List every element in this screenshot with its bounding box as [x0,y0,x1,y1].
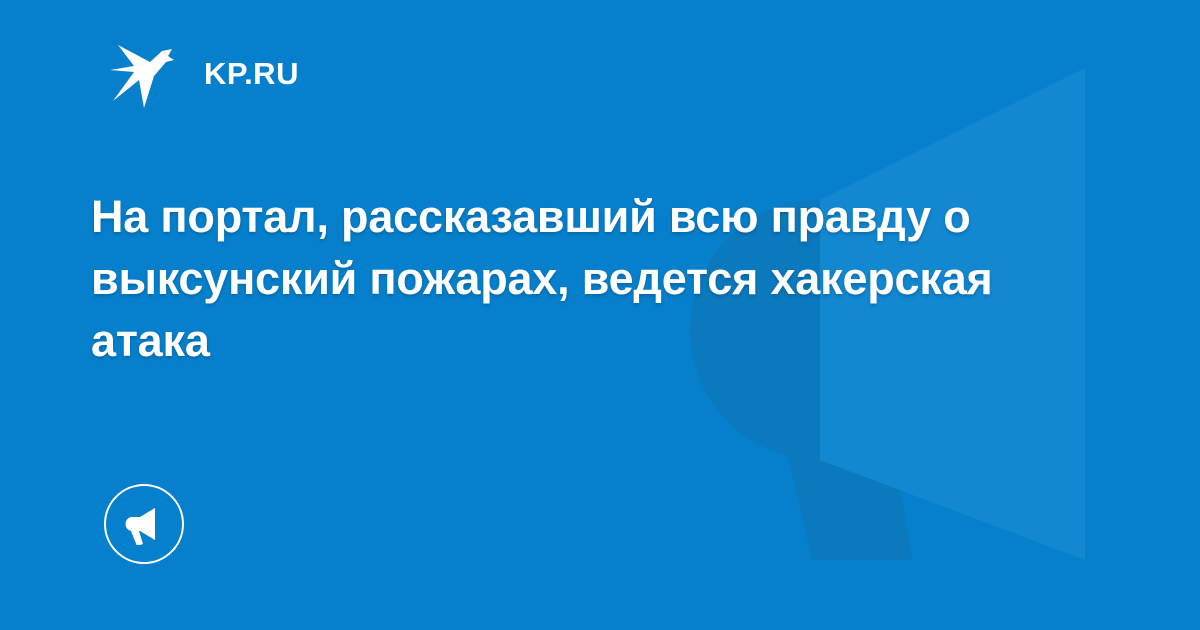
swallow-bird-logo-icon [110,38,182,108]
megaphone-icon [123,503,165,545]
share-card: KP.RU На портал, рассказавший всю правду… [0,0,1200,630]
megaphone-badge[interactable] [104,484,184,564]
brand-logo[interactable]: KP.RU [110,38,299,108]
brand-name: KP.RU [204,58,299,89]
page-title: На портал, рассказавший всю правду о вык… [91,186,1031,372]
